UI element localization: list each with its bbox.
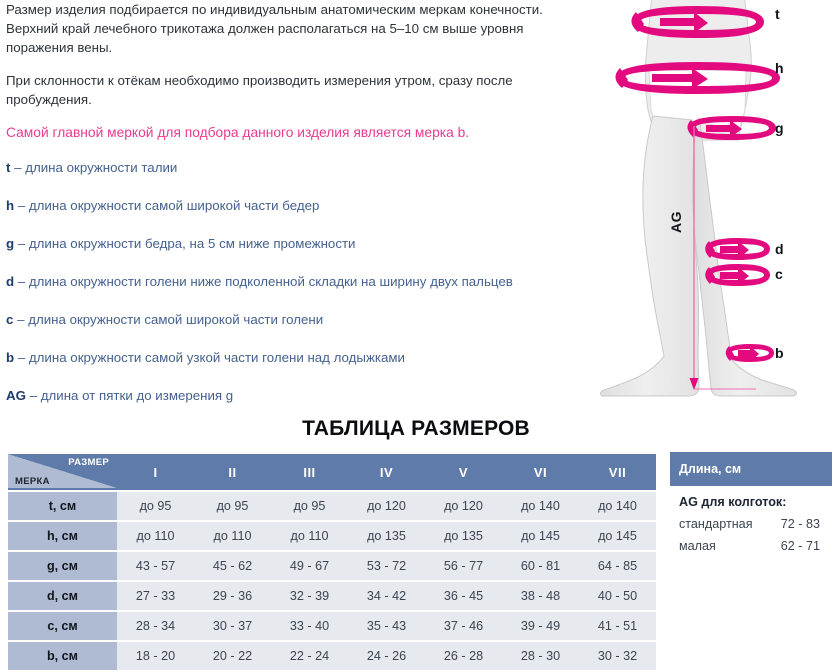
figure-marker-h: h bbox=[775, 60, 784, 76]
legend-key-t: t bbox=[6, 160, 10, 175]
cell-d-7: 40 - 50 bbox=[579, 582, 656, 610]
cell-g-4: 53 - 72 bbox=[348, 552, 425, 580]
cell-b-2: 20 - 22 bbox=[194, 642, 271, 670]
figure-marker-c: c bbox=[775, 266, 783, 282]
cell-t-2: до 95 bbox=[194, 492, 271, 520]
legend-text-d: – длина окружности голени ниже подколенн… bbox=[18, 274, 513, 289]
cell-d-4: 34 - 42 bbox=[348, 582, 425, 610]
cell-t-5: до 120 bbox=[425, 492, 502, 520]
side-panel-subtitle: AG для колготок: bbox=[670, 486, 832, 513]
length-side-panel: Длина, см AG для колготок: стандартная 7… bbox=[670, 452, 832, 557]
cell-b-7: 30 - 32 bbox=[579, 642, 656, 670]
cell-t-3: до 95 bbox=[271, 492, 348, 520]
cell-g-1: 43 - 57 bbox=[117, 552, 194, 580]
cell-b-1: 18 - 20 bbox=[117, 642, 194, 670]
row-label-t: t, см bbox=[8, 492, 117, 520]
legend-text-t: – длина окружности талии bbox=[14, 160, 177, 175]
side-panel-label-small: малая bbox=[679, 539, 716, 553]
cell-d-1: 27 - 33 bbox=[117, 582, 194, 610]
legend-item-t: t – длина окружности талии bbox=[6, 158, 562, 177]
cell-c-1: 28 - 34 bbox=[117, 612, 194, 640]
cell-b-5: 26 - 28 bbox=[425, 642, 502, 670]
legend-key-g: g bbox=[6, 236, 14, 251]
corner-measure-label: МЕРКА bbox=[15, 476, 50, 487]
cell-t-6: до 140 bbox=[502, 492, 579, 520]
body-figure-svg bbox=[560, 0, 832, 400]
cell-c-6: 39 - 49 bbox=[502, 612, 579, 640]
cell-h-2: до 110 bbox=[194, 522, 271, 550]
highlight-note: Самой главной меркой для подбора данного… bbox=[6, 123, 562, 142]
size-table-title: ТАБЛИЦА РАЗМЕРОВ bbox=[0, 417, 832, 441]
cell-t-7: до 140 bbox=[579, 492, 656, 520]
table-row: h, см до 110 до 110 до 110 до 135 до 135… bbox=[8, 522, 656, 550]
measure-band-b bbox=[726, 344, 774, 362]
cell-c-5: 37 - 46 bbox=[425, 612, 502, 640]
table-row: t, см до 95 до 95 до 95 до 120 до 120 до… bbox=[8, 492, 656, 520]
legend-text-g: – длина окружности бедра, на 5 см ниже п… bbox=[18, 236, 356, 251]
row-label-g: g, см bbox=[8, 552, 117, 580]
side-panel-row-standard: стандартная 72 - 83 bbox=[670, 513, 832, 535]
cell-g-7: 64 - 85 bbox=[579, 552, 656, 580]
cell-d-5: 36 - 45 bbox=[425, 582, 502, 610]
anatomy-measurement-illustration: t h g d c b AG bbox=[560, 0, 832, 400]
cell-c-7: 41 - 51 bbox=[579, 612, 656, 640]
cell-h-6: до 145 bbox=[502, 522, 579, 550]
cell-b-6: 28 - 30 bbox=[502, 642, 579, 670]
legend-text-ag: – длина от пятки до измерения g bbox=[30, 388, 234, 403]
measure-band-h bbox=[615, 62, 780, 94]
legend-key-b: b bbox=[6, 350, 14, 365]
legend-text-h: – длина окружности самой широкой части б… bbox=[18, 198, 320, 213]
table-row: g, см 43 - 57 45 - 62 49 - 67 53 - 72 56… bbox=[8, 552, 656, 580]
cell-t-1: до 95 bbox=[117, 492, 194, 520]
size-table-body: t, см до 95 до 95 до 95 до 120 до 120 до… bbox=[8, 492, 656, 670]
row-label-d: d, см bbox=[8, 582, 117, 610]
figure-marker-g: g bbox=[775, 120, 784, 136]
figure-marker-b: b bbox=[775, 345, 784, 361]
cell-h-7: до 145 bbox=[579, 522, 656, 550]
size-header-7: VII bbox=[579, 454, 656, 490]
size-header-6: VI bbox=[502, 454, 579, 490]
cell-g-6: 60 - 81 bbox=[502, 552, 579, 580]
size-table-header-row: РАЗМЕР МЕРКА I II III IV V VI VII bbox=[8, 454, 656, 490]
intro-paragraph-1: Размер изделия подбирается по индивидуал… bbox=[6, 0, 562, 57]
cell-d-3: 32 - 39 bbox=[271, 582, 348, 610]
legend-item-h: h – длина окружности самой широкой части… bbox=[6, 196, 562, 215]
cell-h-3: до 110 bbox=[271, 522, 348, 550]
legend-key-ag: AG bbox=[6, 388, 26, 403]
cell-c-4: 35 - 43 bbox=[348, 612, 425, 640]
cell-b-3: 22 - 24 bbox=[271, 642, 348, 670]
table-row: d, см 27 - 33 29 - 36 32 - 39 34 - 42 36… bbox=[8, 582, 656, 610]
cell-t-4: до 120 bbox=[348, 492, 425, 520]
instructions-text-column: Размер изделия подбирается по индивидуал… bbox=[6, 0, 562, 424]
cell-h-4: до 135 bbox=[348, 522, 425, 550]
corner-size-label: РАЗМЕР bbox=[68, 457, 109, 468]
intro-paragraph-2: При склонности к отёкам необходимо произ… bbox=[6, 71, 562, 109]
size-header-1: I bbox=[117, 454, 194, 490]
legend-text-b: – длина окружности самой узкой части гол… bbox=[18, 350, 405, 365]
legend-item-c: c – длина окружности самой широкой части… bbox=[6, 310, 562, 329]
size-header-3: III bbox=[271, 454, 348, 490]
row-label-b: b, см bbox=[8, 642, 117, 670]
size-table-wrapper: РАЗМЕР МЕРКА I II III IV V VI VII t, см … bbox=[8, 452, 824, 672]
legend-item-ag: AG – длина от пятки до измерения g bbox=[6, 386, 562, 405]
cell-h-5: до 135 bbox=[425, 522, 502, 550]
legend-key-d: d bbox=[6, 274, 14, 289]
figure-ag-label: AG bbox=[668, 211, 684, 233]
side-panel-value-small: 62 - 71 bbox=[781, 539, 820, 553]
figure-marker-d: d bbox=[775, 241, 784, 257]
legend-item-g: g – длина окружности бедра, на 5 см ниже… bbox=[6, 234, 562, 253]
table-row: c, см 28 - 34 30 - 37 33 - 40 35 - 43 37… bbox=[8, 612, 656, 640]
cell-h-1: до 110 bbox=[117, 522, 194, 550]
size-header-5: V bbox=[425, 454, 502, 490]
size-table: РАЗМЕР МЕРКА I II III IV V VI VII t, см … bbox=[8, 452, 656, 672]
table-corner-header: РАЗМЕР МЕРКА bbox=[8, 454, 117, 490]
cell-d-2: 29 - 36 bbox=[194, 582, 271, 610]
size-header-4: IV bbox=[348, 454, 425, 490]
legend-item-b: b – длина окружности самой узкой части г… bbox=[6, 348, 562, 367]
cell-d-6: 38 - 48 bbox=[502, 582, 579, 610]
table-row: b, см 18 - 20 20 - 22 22 - 24 24 - 26 26… bbox=[8, 642, 656, 670]
cell-g-2: 45 - 62 bbox=[194, 552, 271, 580]
cell-c-3: 33 - 40 bbox=[271, 612, 348, 640]
cell-b-4: 24 - 26 bbox=[348, 642, 425, 670]
side-panel-header: Длина, см bbox=[670, 452, 832, 486]
cell-g-5: 56 - 77 bbox=[425, 552, 502, 580]
side-panel-value-standard: 72 - 83 bbox=[781, 517, 820, 531]
cell-c-2: 30 - 37 bbox=[194, 612, 271, 640]
instructions-and-figure-section: Размер изделия подбирается по индивидуал… bbox=[0, 0, 832, 408]
legend-item-d: d – длина окружности голени ниже подколе… bbox=[6, 272, 562, 291]
measurement-legend-list: t – длина окружности талии h – длина окр… bbox=[6, 158, 562, 405]
legend-key-c: c bbox=[6, 312, 13, 327]
legend-text-c: – длина окружности самой широкой части г… bbox=[17, 312, 323, 327]
cell-g-3: 49 - 67 bbox=[271, 552, 348, 580]
figure-marker-t: t bbox=[775, 6, 780, 22]
side-panel-label-standard: стандартная bbox=[679, 517, 753, 531]
legend-key-h: h bbox=[6, 198, 14, 213]
row-label-c: c, см bbox=[8, 612, 117, 640]
row-label-h: h, см bbox=[8, 522, 117, 550]
side-panel-row-small: малая 62 - 71 bbox=[670, 535, 832, 557]
size-header-2: II bbox=[194, 454, 271, 490]
body-silhouette bbox=[600, 0, 796, 396]
